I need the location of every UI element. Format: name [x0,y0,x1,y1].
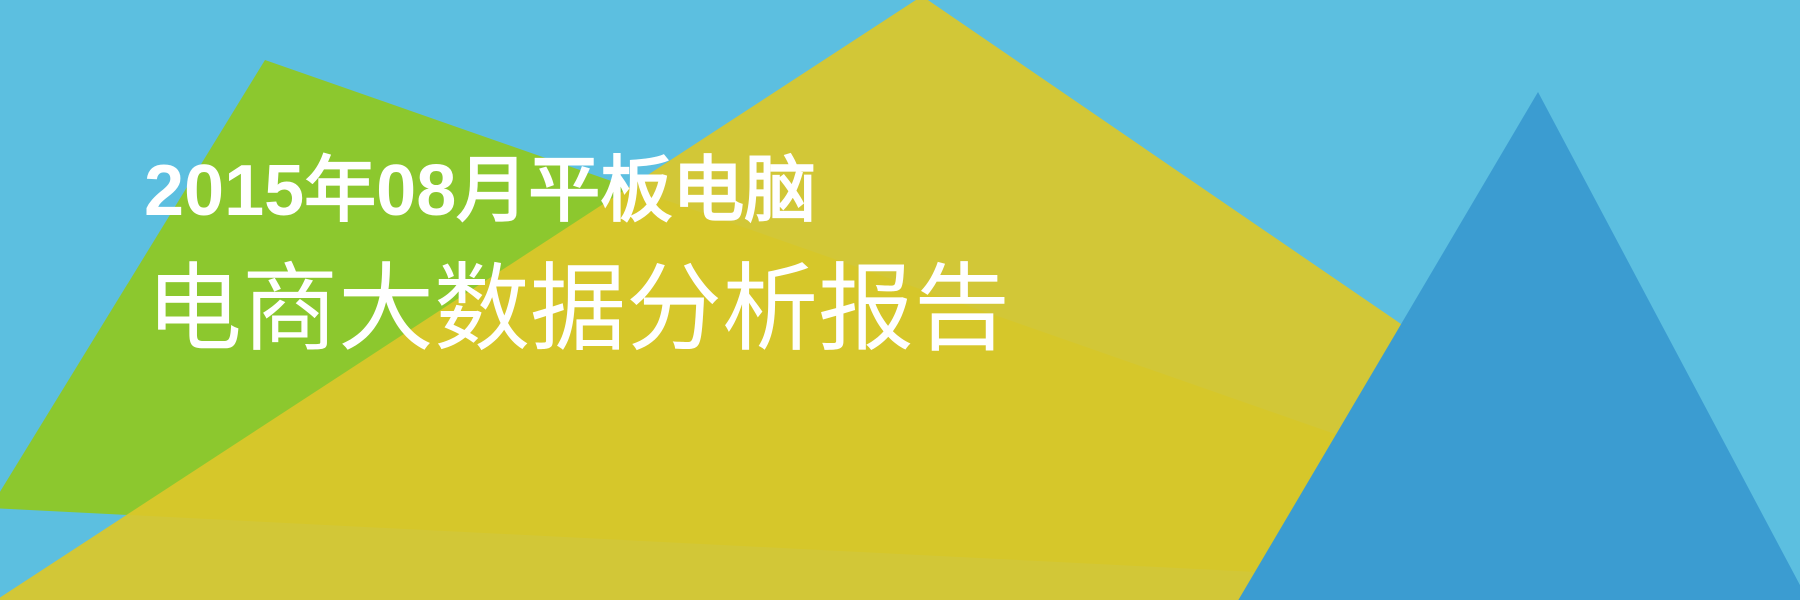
background-geometry [0,0,1800,600]
report-cover-banner: 2015年08月平板电脑 电商大数据分析报告 [0,0,1800,600]
